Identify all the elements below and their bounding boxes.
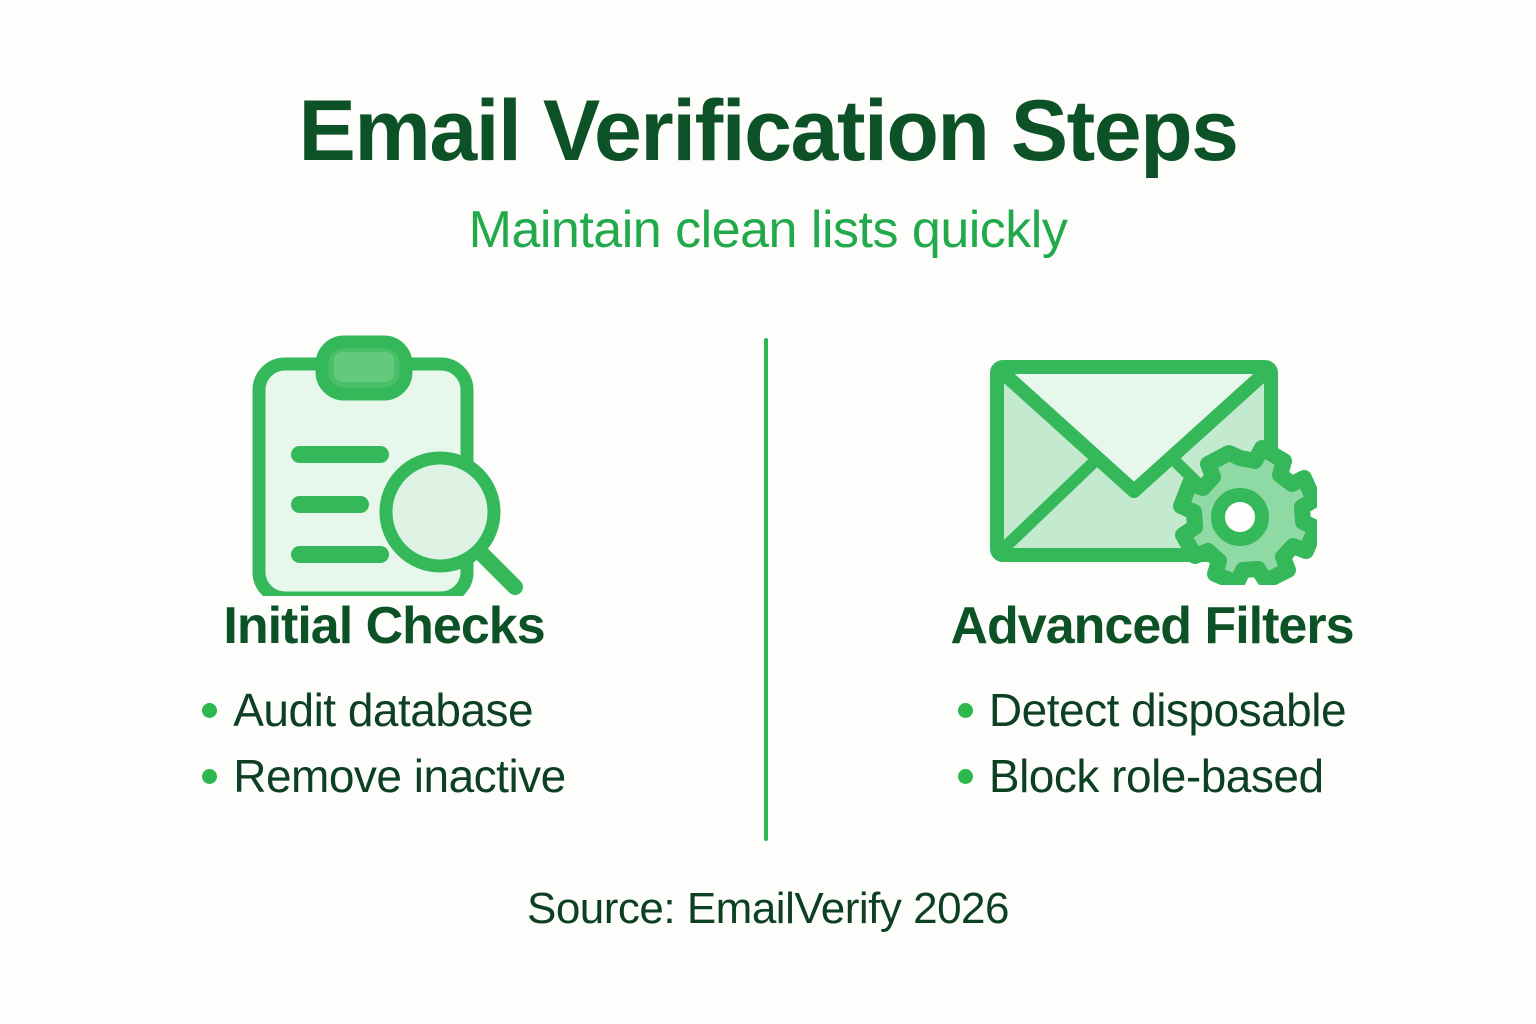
header: Email Verification Steps Maintain clean …: [0, 88, 1536, 256]
list-item: Detect disposable: [958, 686, 1346, 734]
bullet-list: Detect disposable Block role-based: [958, 686, 1346, 819]
bullet-label: Remove inactive: [233, 752, 566, 800]
page-title: Email Verification Steps: [0, 88, 1536, 174]
columns-container: Initial Checks Audit database Remove ina…: [0, 330, 1536, 850]
source-attribution: Source: EmailVerify 2026: [0, 884, 1536, 934]
column-heading: Initial Checks: [223, 600, 544, 652]
column-initial-checks: Initial Checks Audit database Remove ina…: [0, 330, 768, 850]
page-subtitle: Maintain clean lists quickly: [0, 204, 1536, 256]
bullet-label: Detect disposable: [989, 686, 1346, 734]
bullet-list: Audit database Remove inactive: [202, 686, 566, 819]
list-item: Remove inactive: [202, 752, 566, 800]
envelope-gear-icon: [987, 330, 1317, 600]
bullet-dot-icon: [958, 703, 973, 718]
bullet-dot-icon: [202, 769, 217, 784]
bullet-dot-icon: [202, 703, 217, 718]
column-advanced-filters: Advanced Filters Detect disposable Block…: [768, 330, 1536, 850]
bullet-dot-icon: [958, 769, 973, 784]
clipboard-magnifier-icon: [229, 330, 539, 600]
list-item: Block role-based: [958, 752, 1346, 800]
column-heading: Advanced Filters: [950, 600, 1353, 652]
infographic-canvas: Email Verification Steps Maintain clean …: [0, 0, 1536, 1024]
bullet-label: Block role-based: [989, 752, 1324, 800]
bullet-label: Audit database: [233, 686, 533, 734]
list-item: Audit database: [202, 686, 566, 734]
